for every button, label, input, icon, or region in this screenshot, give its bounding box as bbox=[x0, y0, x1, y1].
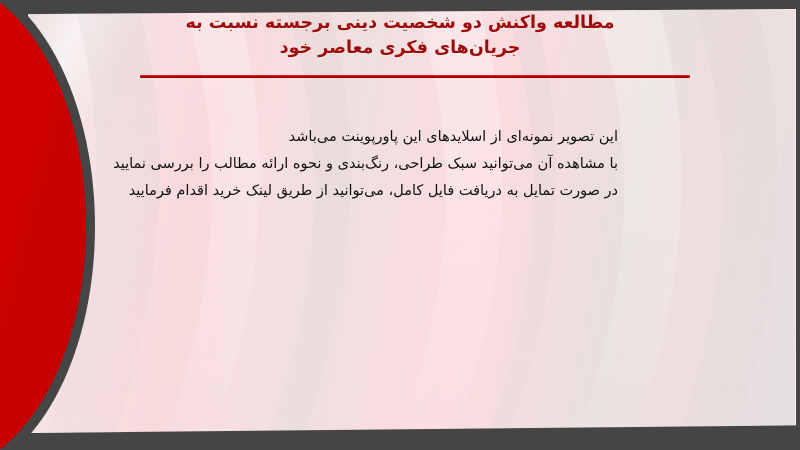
slide-canvas: مطالعه واکنش دو شخصیت دینی برجسته نسبت ب… bbox=[0, 0, 800, 450]
slide-background bbox=[28, 9, 796, 433]
title-line-1: مطالعه واکنش دو شخصیت دینی برجسته نسبت ب… bbox=[100, 11, 700, 36]
slide-body-text: این تصویر نمونه‌ای از اسلایدهای این پاور… bbox=[148, 124, 618, 205]
title-line-2: جریان‌های فکری معاصر خود bbox=[100, 36, 700, 61]
body-line-2: با مشاهده آن می‌توانید سبک طراحی، رنگ‌بن… bbox=[148, 151, 618, 178]
background-curve-bands bbox=[28, 9, 796, 433]
body-line-1: این تصویر نمونه‌ای از اسلایدهای این پاور… bbox=[148, 124, 618, 151]
title-divider-rule bbox=[140, 75, 690, 78]
body-line-3: در صورت تمایل به دریافت فایل کامل، می‌تو… bbox=[148, 178, 618, 205]
slide-title: مطالعه واکنش دو شخصیت دینی برجسته نسبت ب… bbox=[100, 11, 700, 61]
